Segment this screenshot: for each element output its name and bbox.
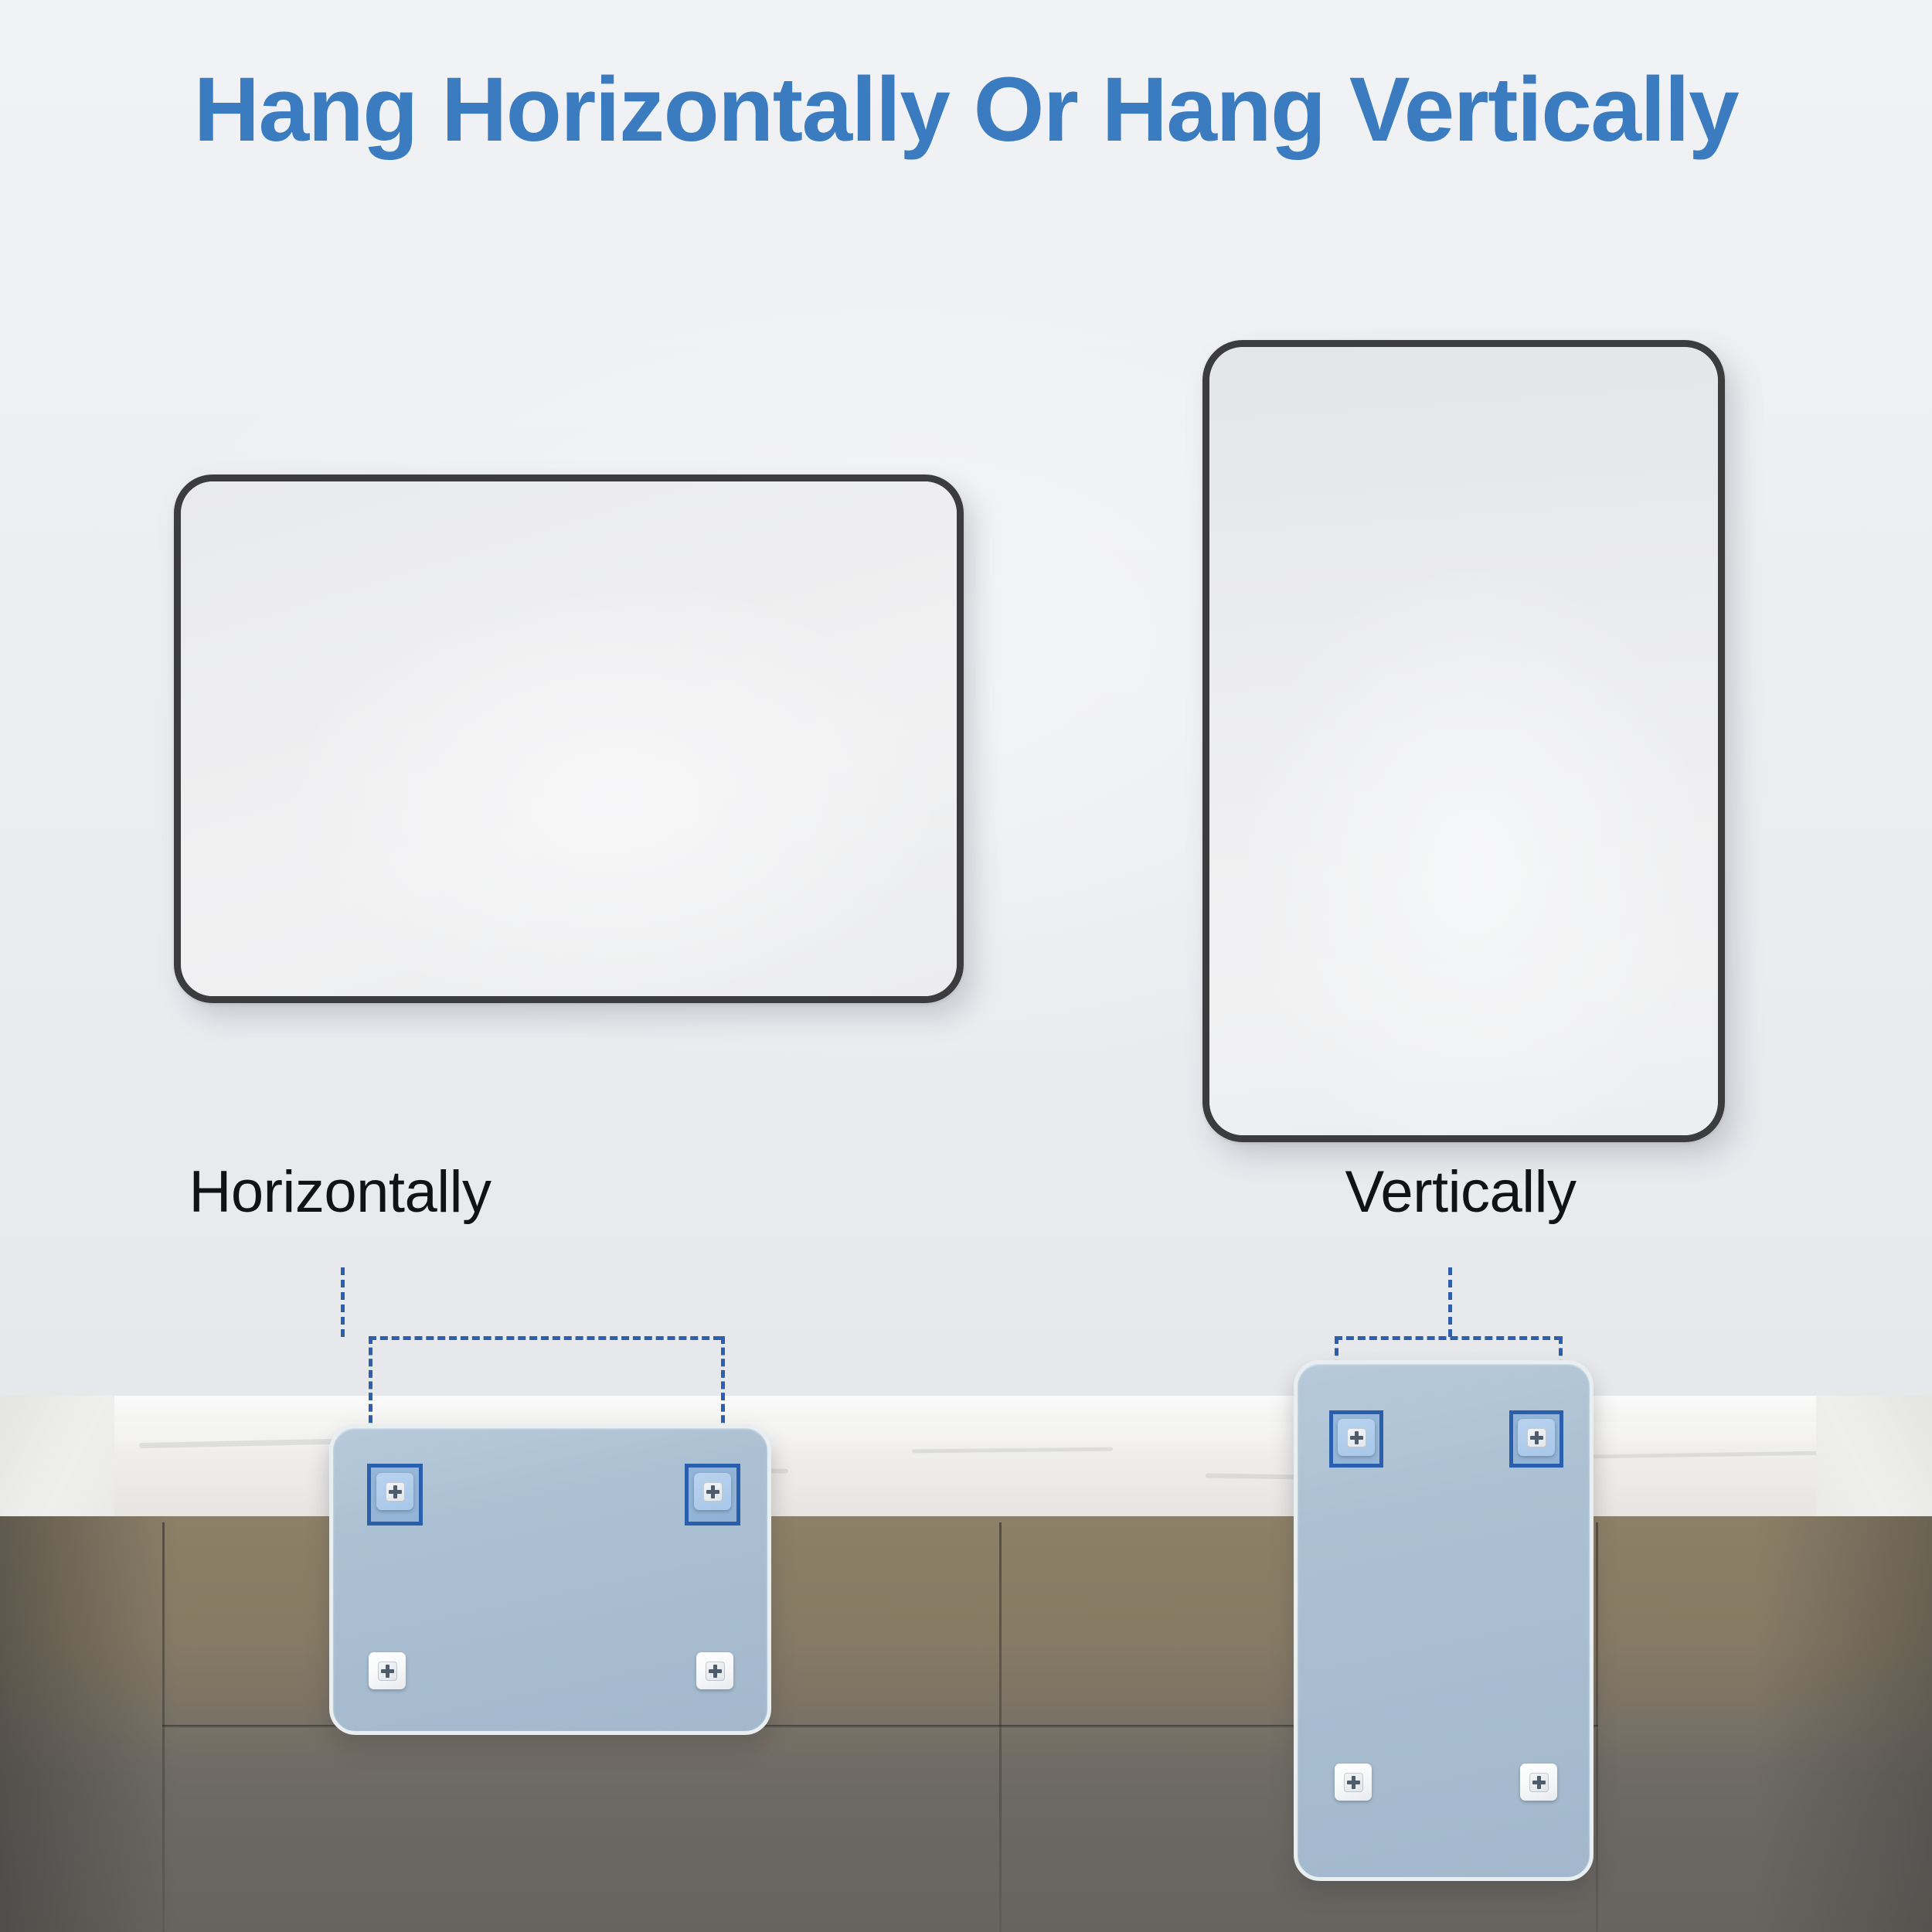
mounting-bracket-bottom-left-horizontal	[369, 1652, 406, 1689]
screw-cross-icon	[1344, 1773, 1363, 1792]
mounting-bracket-top-left-horizontal	[376, 1473, 413, 1510]
vanity-cabinet	[0, 1516, 1932, 1932]
countertop-right-return	[1816, 1396, 1932, 1519]
cabinet-shadow-left	[0, 1516, 178, 1932]
screw-cross-icon	[378, 1662, 397, 1681]
wall-mirror-horizontal	[174, 474, 964, 1003]
countertop-left-return	[0, 1396, 114, 1519]
mirror-glass-horizontal	[181, 481, 957, 996]
mirror-back-panel-horizontal	[329, 1424, 771, 1735]
countertop-top-face	[0, 1396, 1932, 1422]
page-title: Hang Horizontally Or Hang Vertically	[0, 62, 1932, 158]
mirror-glass-vertical	[1209, 347, 1718, 1135]
infographic-canvas: Hang Horizontally Or Hang Vertically Hor…	[0, 0, 1932, 1932]
screw-cross-icon	[1347, 1428, 1366, 1447]
caption-horizontally: Horizontally	[0, 1163, 680, 1222]
screw-cross-icon	[703, 1482, 723, 1502]
mirror-back-panel-vertical	[1294, 1360, 1594, 1881]
screw-cross-icon	[386, 1482, 405, 1502]
callout-stem-horizontal	[341, 1267, 345, 1337]
mounting-bracket-bottom-right-vertical	[1520, 1764, 1557, 1801]
countertop-front-edge	[0, 1422, 1932, 1519]
callout-bar-horizontal	[369, 1336, 721, 1340]
screw-cross-icon	[706, 1662, 725, 1681]
caption-vertically: Vertically	[1175, 1163, 1747, 1222]
mounting-bracket-bottom-left-vertical	[1335, 1764, 1372, 1801]
mounting-bracket-top-right-horizontal	[694, 1473, 731, 1510]
screw-cross-icon	[1529, 1773, 1549, 1792]
countertop	[0, 1396, 1932, 1519]
callout-bar-vertical	[1335, 1336, 1562, 1340]
mounting-bracket-top-right-vertical	[1518, 1419, 1555, 1456]
wall-mirror-vertical	[1202, 340, 1725, 1142]
mounting-bracket-bottom-right-horizontal	[696, 1652, 733, 1689]
mounting-bracket-top-left-vertical	[1338, 1419, 1375, 1456]
callout-stem-vertical	[1448, 1267, 1452, 1337]
screw-cross-icon	[1527, 1428, 1546, 1447]
cabinet-shadow-right	[1754, 1516, 1932, 1932]
